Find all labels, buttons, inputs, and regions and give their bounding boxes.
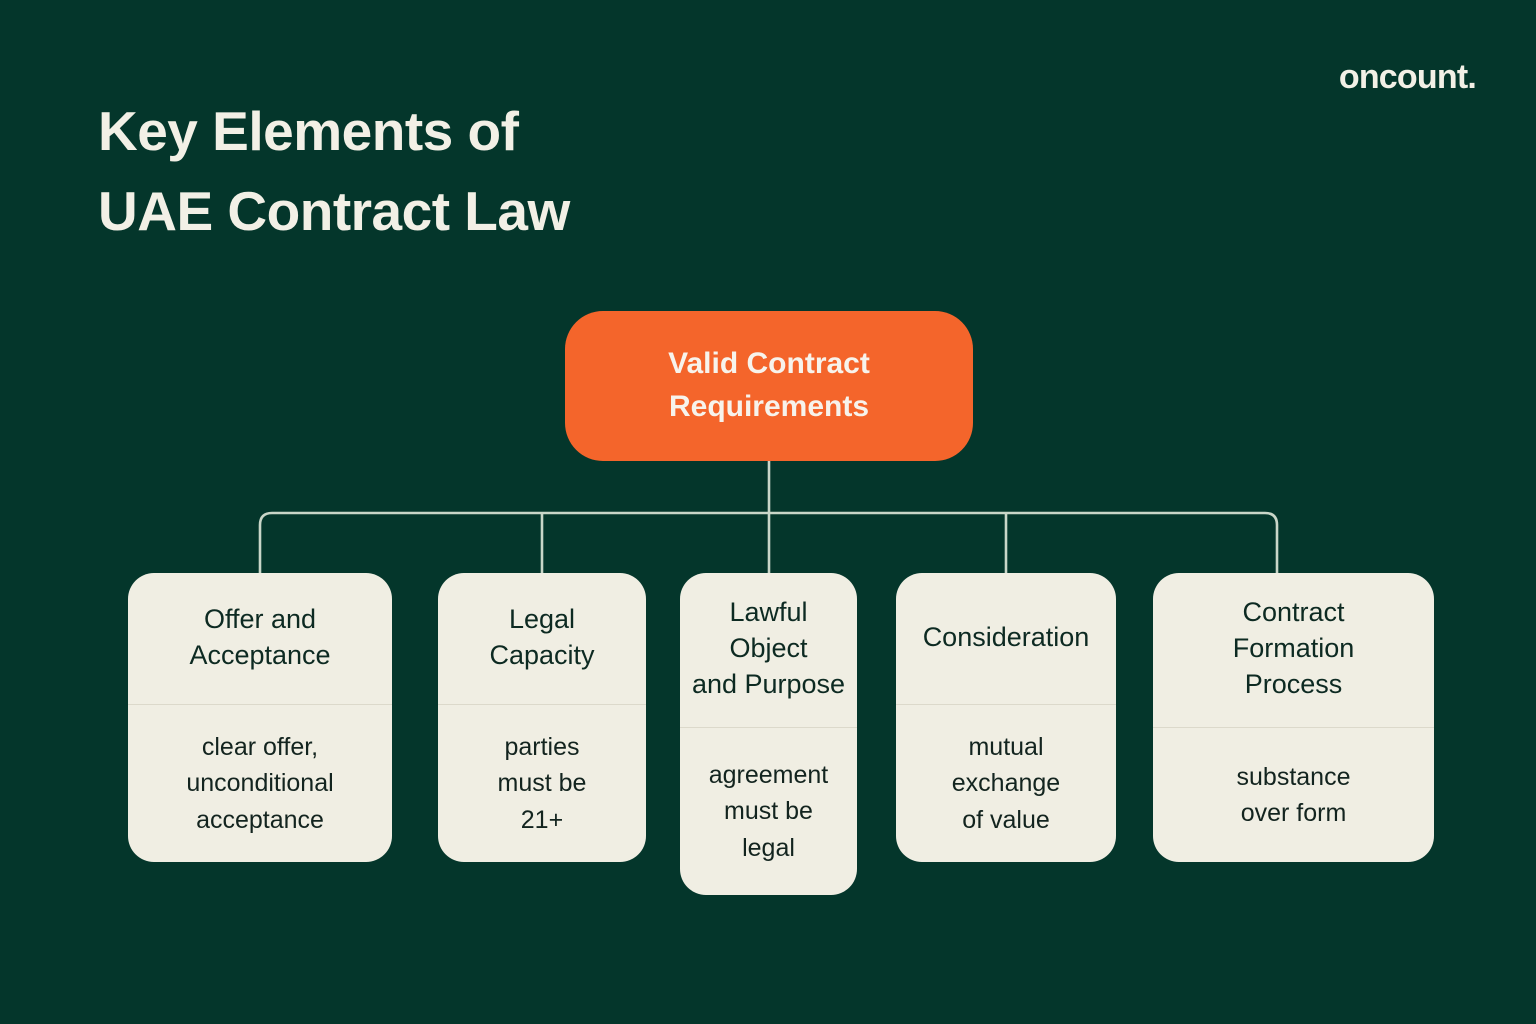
card-description: agreement must be legal bbox=[680, 728, 857, 895]
card-title: Consideration bbox=[896, 573, 1116, 705]
card-description: mutual exchange of value bbox=[896, 705, 1116, 862]
card-title: Offer and Acceptance bbox=[128, 573, 392, 705]
card-title: Lawful Object and Purpose bbox=[680, 573, 857, 728]
card-description: parties must be 21+ bbox=[438, 705, 646, 862]
card-contract-formation-process[interactable]: Contract Formation Process substance ove… bbox=[1153, 573, 1434, 862]
card-description: substance over form bbox=[1153, 728, 1434, 862]
root-node-valid-contract-requirements[interactable]: Valid Contract Requirements bbox=[565, 311, 973, 461]
slide-canvas: Key Elements of UAE Contract Law oncount… bbox=[0, 0, 1536, 1024]
card-description: clear offer, unconditional acceptance bbox=[128, 705, 392, 862]
card-lawful-object-and-purpose[interactable]: Lawful Object and Purpose agreement must… bbox=[680, 573, 857, 895]
card-title: Legal Capacity bbox=[438, 573, 646, 705]
root-node-label: Valid Contract Requirements bbox=[646, 343, 892, 428]
card-offer-and-acceptance[interactable]: Offer and Acceptance clear offer, uncond… bbox=[128, 573, 392, 862]
card-consideration[interactable]: Consideration mutual exchange of value bbox=[896, 573, 1116, 862]
card-legal-capacity[interactable]: Legal Capacity parties must be 21+ bbox=[438, 573, 646, 862]
card-title: Contract Formation Process bbox=[1153, 573, 1434, 728]
